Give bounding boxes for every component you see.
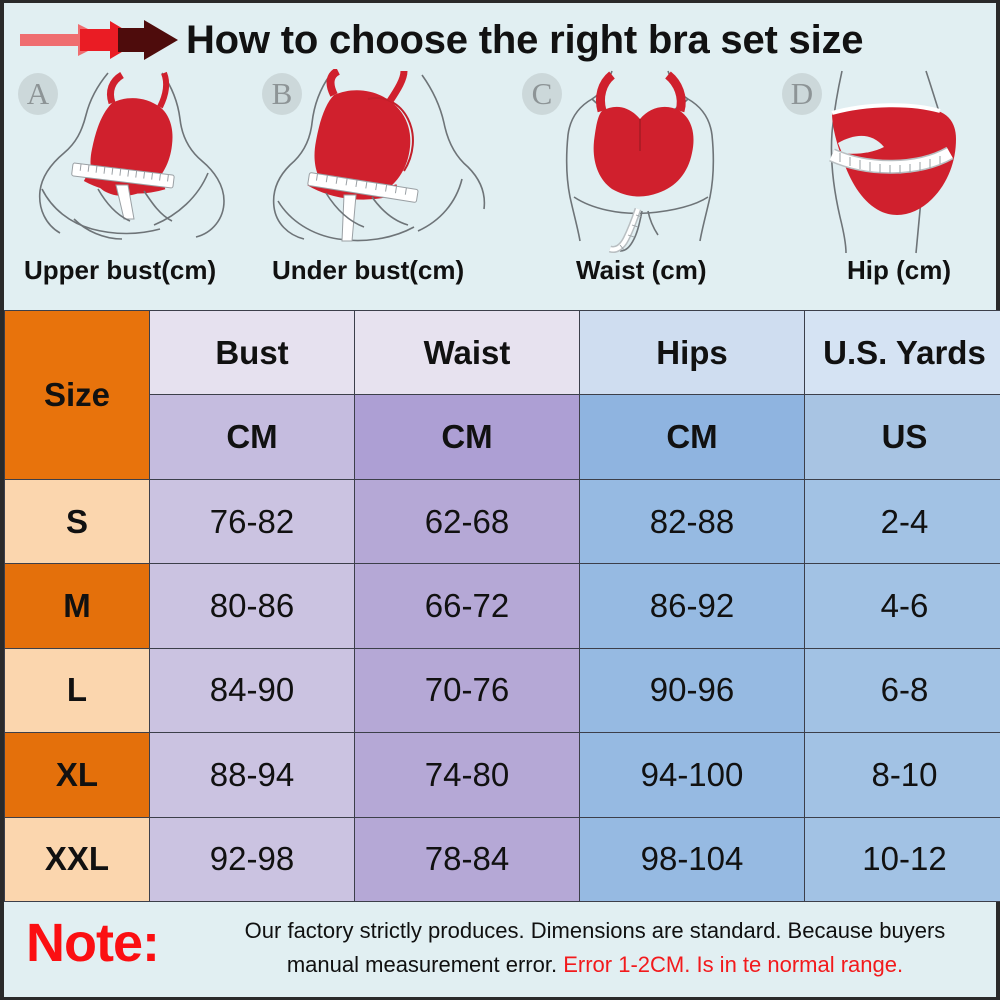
header-size: Size [5,311,150,480]
header-waist: Waist [355,311,580,395]
cell-size: M [5,564,150,648]
figure-label-under-bust: Under bust(cm) [272,255,464,286]
cell-bust: 80-86 [150,564,355,648]
cell-us: 2-4 [805,479,1000,563]
figure-hip: D [776,69,1000,254]
note-section: Note: Our factory strictly produces. Dim… [0,902,1000,1000]
figure-label-upper-bust: Upper bust(cm) [24,255,216,286]
size-table: Size Bust Waist Hips U.S. Yards CM CM CM… [4,310,1000,902]
cell-hips: 94-100 [580,733,805,817]
table-row: XL 88-94 74-80 94-100 8-10 [5,733,1000,817]
cell-waist: 70-76 [355,648,580,732]
figure-label-hip: Hip (cm) [847,255,951,286]
note-label: Note: [26,912,159,974]
table-row: M 80-86 66-72 86-92 4-6 [5,564,1000,648]
header-hips-unit: CM [580,395,805,479]
cell-waist: 74-80 [355,733,580,817]
cell-us: 8-10 [805,733,1000,817]
table-row: L 84-90 70-76 90-96 6-8 [5,648,1000,732]
bra-size-chart-page: How to choose the right bra set size [0,0,1000,1000]
cell-waist: 62-68 [355,479,580,563]
cell-bust: 76-82 [150,479,355,563]
figure-upper-bust: A [12,69,262,254]
cell-waist: 78-84 [355,817,580,901]
header-us-unit: US [805,395,1000,479]
figure-badge-b: B [262,73,302,115]
cell-bust: 88-94 [150,733,355,817]
figure-badge-c: C [522,73,562,115]
page-title: How to choose the right bra set size [186,11,998,69]
cell-size: L [5,648,150,732]
figure-waist: C [516,69,766,254]
cell-hips: 82-88 [580,479,805,563]
table-header-row-name: Size Bust Waist Hips U.S. Yards [5,311,1000,395]
cell-bust: 92-98 [150,817,355,901]
cell-size: S [5,479,150,563]
cell-bust: 84-90 [150,648,355,732]
cell-us: 4-6 [805,564,1000,648]
note-line-2-red: Error 1-2CM. Is in te normal range. [563,952,903,977]
table-row: XXL 92-98 78-84 98-104 10-12 [5,817,1000,901]
figure-label-waist: Waist (cm) [576,255,707,286]
header-us-yards: U.S. Yards [805,311,1000,395]
cell-size: XXL [5,817,150,901]
table-header-row-unit: CM CM CM US [5,395,1000,479]
cell-size: XL [5,733,150,817]
header-hips: Hips [580,311,805,395]
table-row: S 76-82 62-68 82-88 2-4 [5,479,1000,563]
figure-badge-a: A [18,73,58,115]
note-line-1: Our factory strictly produces. Dimension… [245,918,946,943]
cell-us: 10-12 [805,817,1000,901]
header-bust: Bust [150,311,355,395]
cell-hips: 98-104 [580,817,805,901]
cell-hips: 90-96 [580,648,805,732]
cell-waist: 66-72 [355,564,580,648]
note-line-2-black: manual measurement error. [287,952,557,977]
figure-badge-d: D [782,73,822,115]
triple-arrow-right-icon [18,17,183,63]
cell-us: 6-8 [805,648,1000,732]
note-text: Our factory strictly produces. Dimension… [200,914,990,982]
header-bust-unit: CM [150,395,355,479]
figure-under-bust: B [256,69,506,254]
cell-hips: 86-92 [580,564,805,648]
illustration-panel: How to choose the right bra set size [0,0,1000,310]
header-waist-unit: CM [355,395,580,479]
size-table-container: Size Bust Waist Hips U.S. Yards CM CM CM… [0,310,1000,902]
